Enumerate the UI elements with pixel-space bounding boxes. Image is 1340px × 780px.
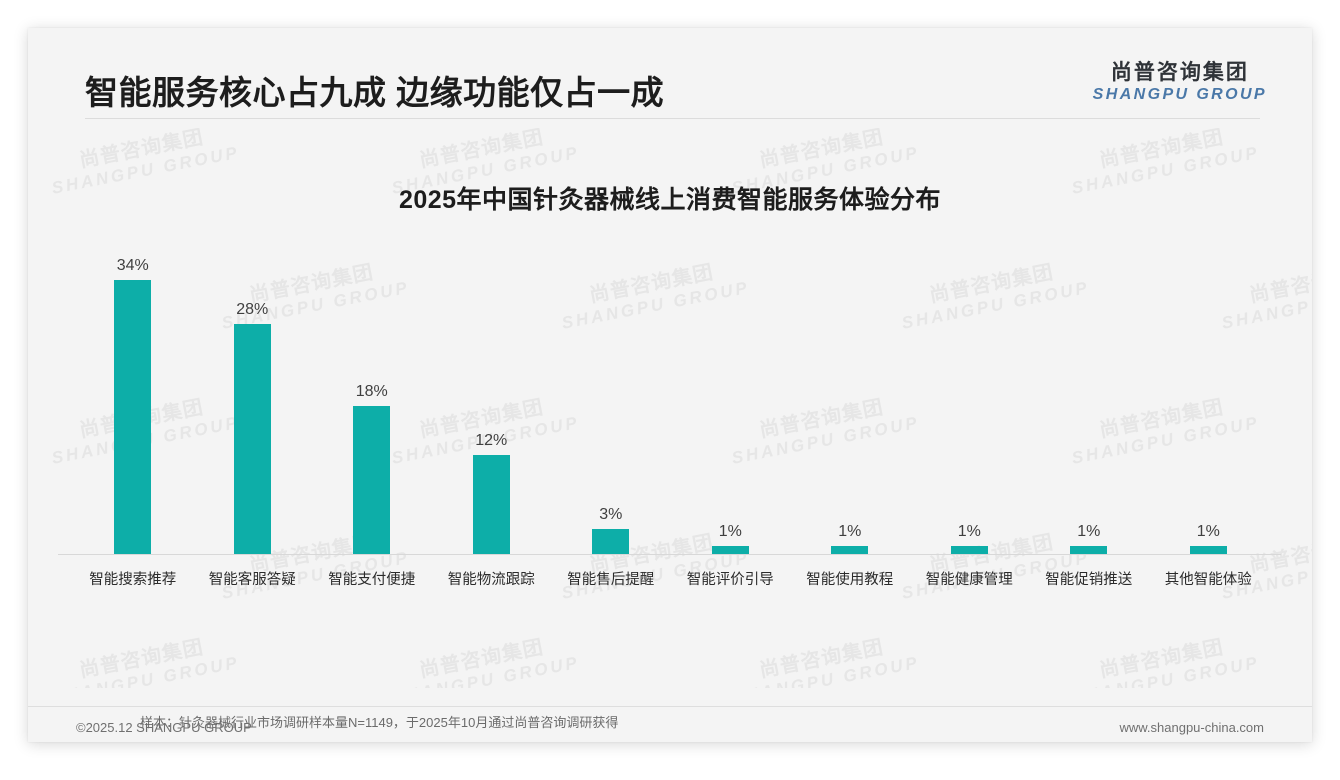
slide-header: 智能服务核心占九成 边缘功能仅占一成 尚普咨询集团 SHANGPU GROUP xyxy=(28,28,1312,110)
brand-logo: 尚普咨询集团 SHANGPU GROUP xyxy=(1093,62,1267,103)
watermark-text-cn: 尚普咨询集团 xyxy=(1066,630,1258,688)
bar-value-label: 28% xyxy=(236,302,268,318)
footer-divider xyxy=(28,706,1312,707)
watermark-text-en: SHANGPU GROUP xyxy=(730,653,921,688)
brand-logo-en: SHANGPU GROUP xyxy=(1093,87,1267,103)
watermark-text: 尚普咨询集团SHANGPU GROUP xyxy=(386,630,582,688)
bar-rect[interactable] xyxy=(1070,546,1107,554)
watermark-text: 尚普咨询集团SHANGPU GROUP xyxy=(726,630,922,688)
bar-value-label: 3% xyxy=(599,507,622,523)
bar-column[interactable]: 28% xyxy=(193,258,313,554)
watermark-text-cn: 尚普咨询集团 xyxy=(46,128,238,179)
slide-canvas: 智能服务核心占九成 边缘功能仅占一成 尚普咨询集团 SHANGPU GROUP … xyxy=(28,28,1312,742)
x-axis-category-label: 智能搜索推荐 xyxy=(73,568,193,589)
brand-logo-cn: 尚普咨询集团 xyxy=(1093,62,1267,83)
chart-title: 2025年中国针灸器械线上消费智能服务体验分布 xyxy=(28,180,1312,216)
bar-rect[interactable] xyxy=(712,546,749,554)
watermark-text-en: SHANGPU GROUP xyxy=(390,653,581,688)
watermark-text: 尚普咨询集团SHANGPU GROUP xyxy=(46,630,242,688)
bar-column[interactable]: 1% xyxy=(790,258,910,554)
bar-column[interactable]: 1% xyxy=(671,258,791,554)
watermark-text-en: SHANGPU GROUP xyxy=(1070,653,1261,688)
x-axis-category-label: 智能促销推送 xyxy=(1029,568,1149,589)
bar-value-label: 1% xyxy=(838,524,861,540)
x-axis-category-label: 智能评价引导 xyxy=(671,568,791,589)
watermark-text-en: SHANGPU GROUP xyxy=(50,653,241,688)
watermark-text-cn: 尚普咨询集团 xyxy=(726,128,918,179)
bar-rect[interactable] xyxy=(831,546,868,554)
bar-value-label: 18% xyxy=(356,384,388,400)
website-link[interactable]: www.shangpu-china.com xyxy=(1119,720,1264,735)
bar-column[interactable]: 1% xyxy=(1149,258,1269,554)
watermark-text: 尚普咨询集团SHANGPU GROUP xyxy=(1066,630,1262,688)
bar-rect[interactable] xyxy=(1190,546,1227,554)
bar-rect[interactable] xyxy=(951,546,988,554)
watermark-text-cn: 尚普咨询集团 xyxy=(386,128,578,179)
x-axis-category-label: 智能健康管理 xyxy=(910,568,1030,589)
x-axis-category-label: 智能使用教程 xyxy=(790,568,910,589)
bar-series: 34%28%18%12%3%1%1%1%1%1% xyxy=(73,258,1268,554)
bar-rect[interactable] xyxy=(592,529,629,554)
bar-value-label: 12% xyxy=(475,433,507,449)
watermark-text-cn: 尚普咨询集团 xyxy=(1066,128,1258,179)
bar-column[interactable]: 12% xyxy=(432,258,552,554)
page-title: 智能服务核心占九成 边缘功能仅占一成 xyxy=(85,76,664,109)
x-axis-category-label: 智能支付便捷 xyxy=(312,568,432,589)
watermark-text-cn: 尚普咨询集团 xyxy=(726,630,918,688)
bar-value-label: 1% xyxy=(1197,524,1220,540)
x-axis-category-label: 智能物流跟踪 xyxy=(432,568,552,589)
x-axis-category-labels: 智能搜索推荐智能客服答疑智能支付便捷智能物流跟踪智能售后提醒智能评价引导智能使用… xyxy=(73,568,1268,589)
bar-value-label: 1% xyxy=(958,524,981,540)
bar-column[interactable]: 18% xyxy=(312,258,432,554)
x-axis-line xyxy=(58,554,1281,555)
bar-value-label: 34% xyxy=(117,258,149,274)
bar-column[interactable]: 1% xyxy=(1029,258,1149,554)
bar-rect[interactable] xyxy=(473,455,510,554)
x-axis-category-label: 智能客服答疑 xyxy=(193,568,313,589)
bar-rect[interactable] xyxy=(234,324,271,554)
watermark-text-cn: 尚普咨询集团 xyxy=(386,630,578,688)
x-axis-category-label: 智能售后提醒 xyxy=(551,568,671,589)
chart-plot-area: 34%28%18%12%3%1%1%1%1%1% xyxy=(73,258,1268,554)
copyright-text: ©2025.12 SHANGPU GROUP xyxy=(76,720,252,735)
x-axis-category-label: 其他智能体验 xyxy=(1149,568,1269,589)
bar-column[interactable]: 34% xyxy=(73,258,193,554)
bar-rect[interactable] xyxy=(353,406,390,554)
bar-value-label: 1% xyxy=(1077,524,1100,540)
header-divider xyxy=(85,118,1260,119)
watermark-text-cn: 尚普咨询集团 xyxy=(46,630,238,688)
bar-value-label: 1% xyxy=(719,524,742,540)
bar-rect[interactable] xyxy=(114,280,151,554)
bar-column[interactable]: 3% xyxy=(551,258,671,554)
slide-footer: ©2025.12 SHANGPU GROUP www.shangpu-china… xyxy=(28,714,1312,742)
bar-column[interactable]: 1% xyxy=(910,258,1030,554)
